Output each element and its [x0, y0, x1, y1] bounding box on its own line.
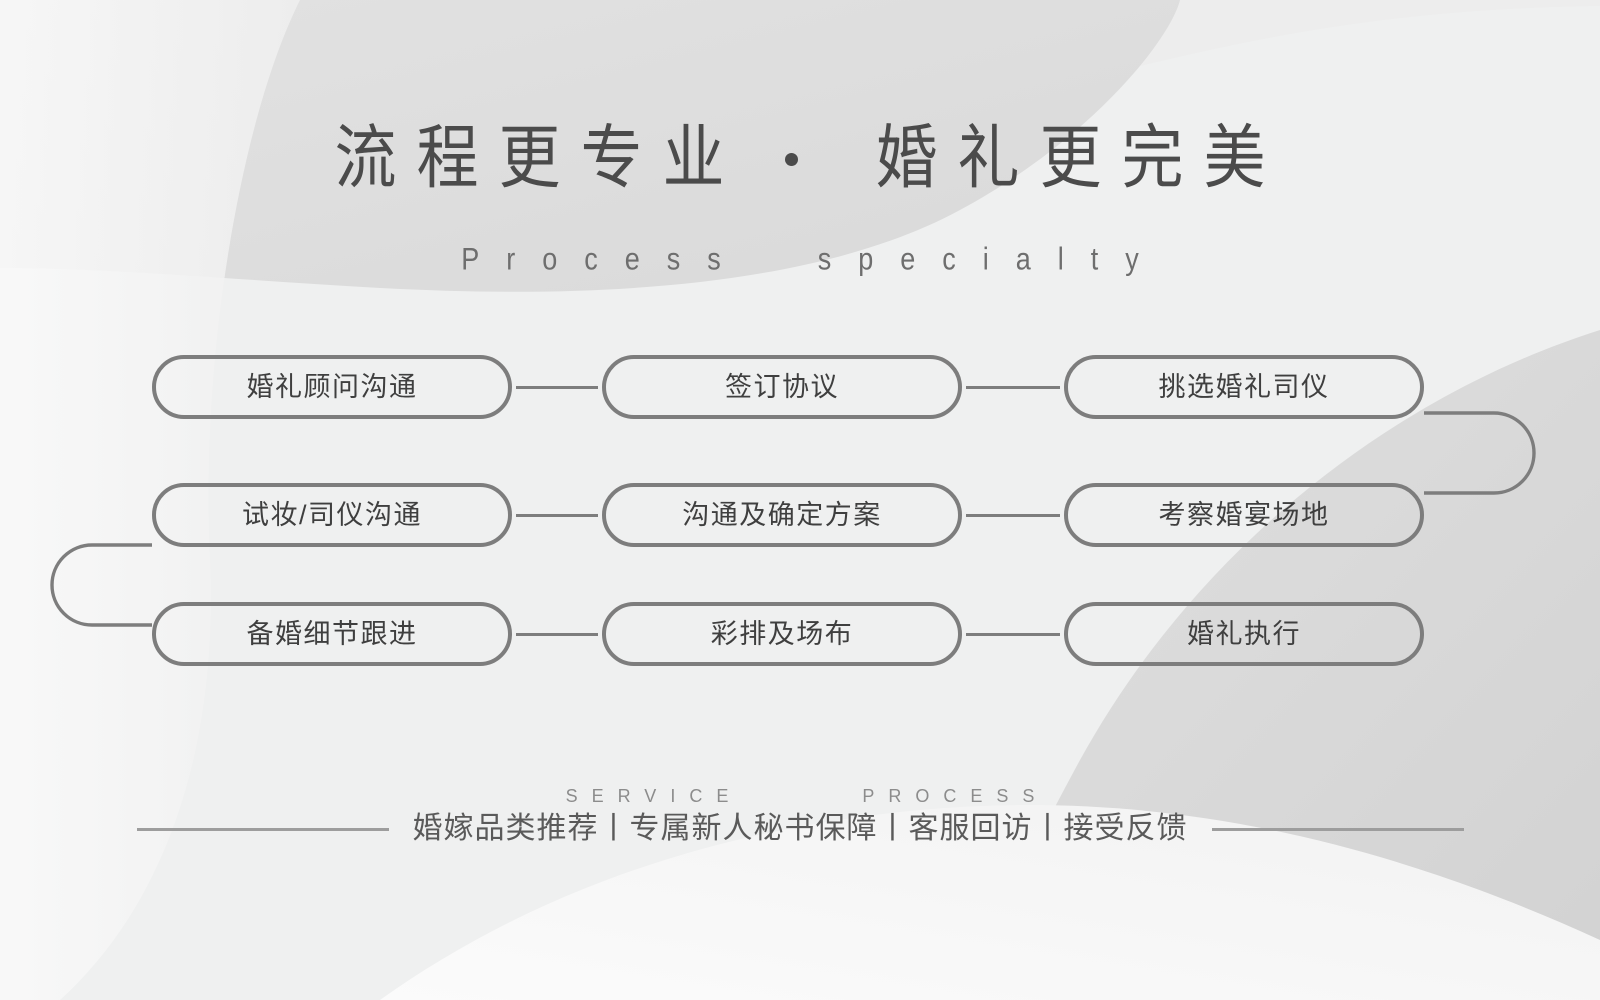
poster-canvas: 流程更专业 婚礼更完美 Processspecialty 婚礼顾问沟通 签订协议: [0, 0, 1600, 1000]
process-step-7-label: 备婚细节跟进: [247, 621, 418, 648]
connector-r2-c1-c2: [516, 514, 598, 517]
connector-r2-c2-c3: [966, 514, 1060, 517]
process-step-6[interactable]: 考察婚宴场地: [1064, 483, 1424, 547]
connector-loop-right: [1424, 400, 1544, 530]
process-step-2[interactable]: 签订协议: [602, 355, 962, 419]
process-step-7[interactable]: 备婚细节跟进: [152, 602, 512, 666]
process-step-4[interactable]: 试妆/司仪沟通: [152, 483, 512, 547]
process-step-9[interactable]: 婚礼执行: [1064, 602, 1424, 666]
process-step-9-label: 婚礼执行: [1187, 621, 1301, 648]
connector-r1-c2-c3: [966, 386, 1060, 389]
footer-eyebrow: SERVICEPROCESS: [0, 786, 1600, 807]
footer-eyebrow-process: PROCESS: [862, 786, 1048, 806]
connector-r3-c1-c2: [516, 633, 598, 636]
footer-eyebrow-service: SERVICE: [566, 786, 743, 806]
process-step-3-label: 挑选婚礼司仪: [1159, 374, 1330, 401]
process-step-8-label: 彩排及场布: [711, 621, 854, 648]
process-step-1[interactable]: 婚礼顾问沟通: [152, 355, 512, 419]
process-step-6-label: 考察婚宴场地: [1159, 502, 1330, 529]
process-step-4-label: 试妆/司仪沟通: [242, 502, 422, 529]
connector-r3-c2-c3: [966, 633, 1060, 636]
divider-left: [137, 828, 389, 831]
divider-right: [1212, 828, 1464, 831]
footer-tagline-row: 婚嫁品类推荐丨专属新人秘书保障丨客服回访丨接受反馈: [0, 814, 1600, 844]
process-step-3[interactable]: 挑选婚礼司仪: [1064, 355, 1424, 419]
process-step-8[interactable]: 彩排及场布: [602, 602, 962, 666]
process-flow-diagram: 婚礼顾问沟通 签订协议 挑选婚礼司仪 试妆/司仪沟通 沟通及确定方案 考察婚宴场…: [0, 0, 1600, 1000]
process-step-1-label: 婚礼顾问沟通: [247, 374, 418, 401]
footer-tagline: 婚嫁品类推荐丨专属新人秘书保障丨客服回访丨接受反馈: [413, 814, 1188, 844]
connector-loop-left: [44, 520, 164, 650]
connector-r1-c1-c2: [516, 386, 598, 389]
process-step-2-label: 签订协议: [725, 374, 839, 401]
process-step-5[interactable]: 沟通及确定方案: [602, 483, 962, 547]
process-step-5-label: 沟通及确定方案: [682, 502, 882, 529]
